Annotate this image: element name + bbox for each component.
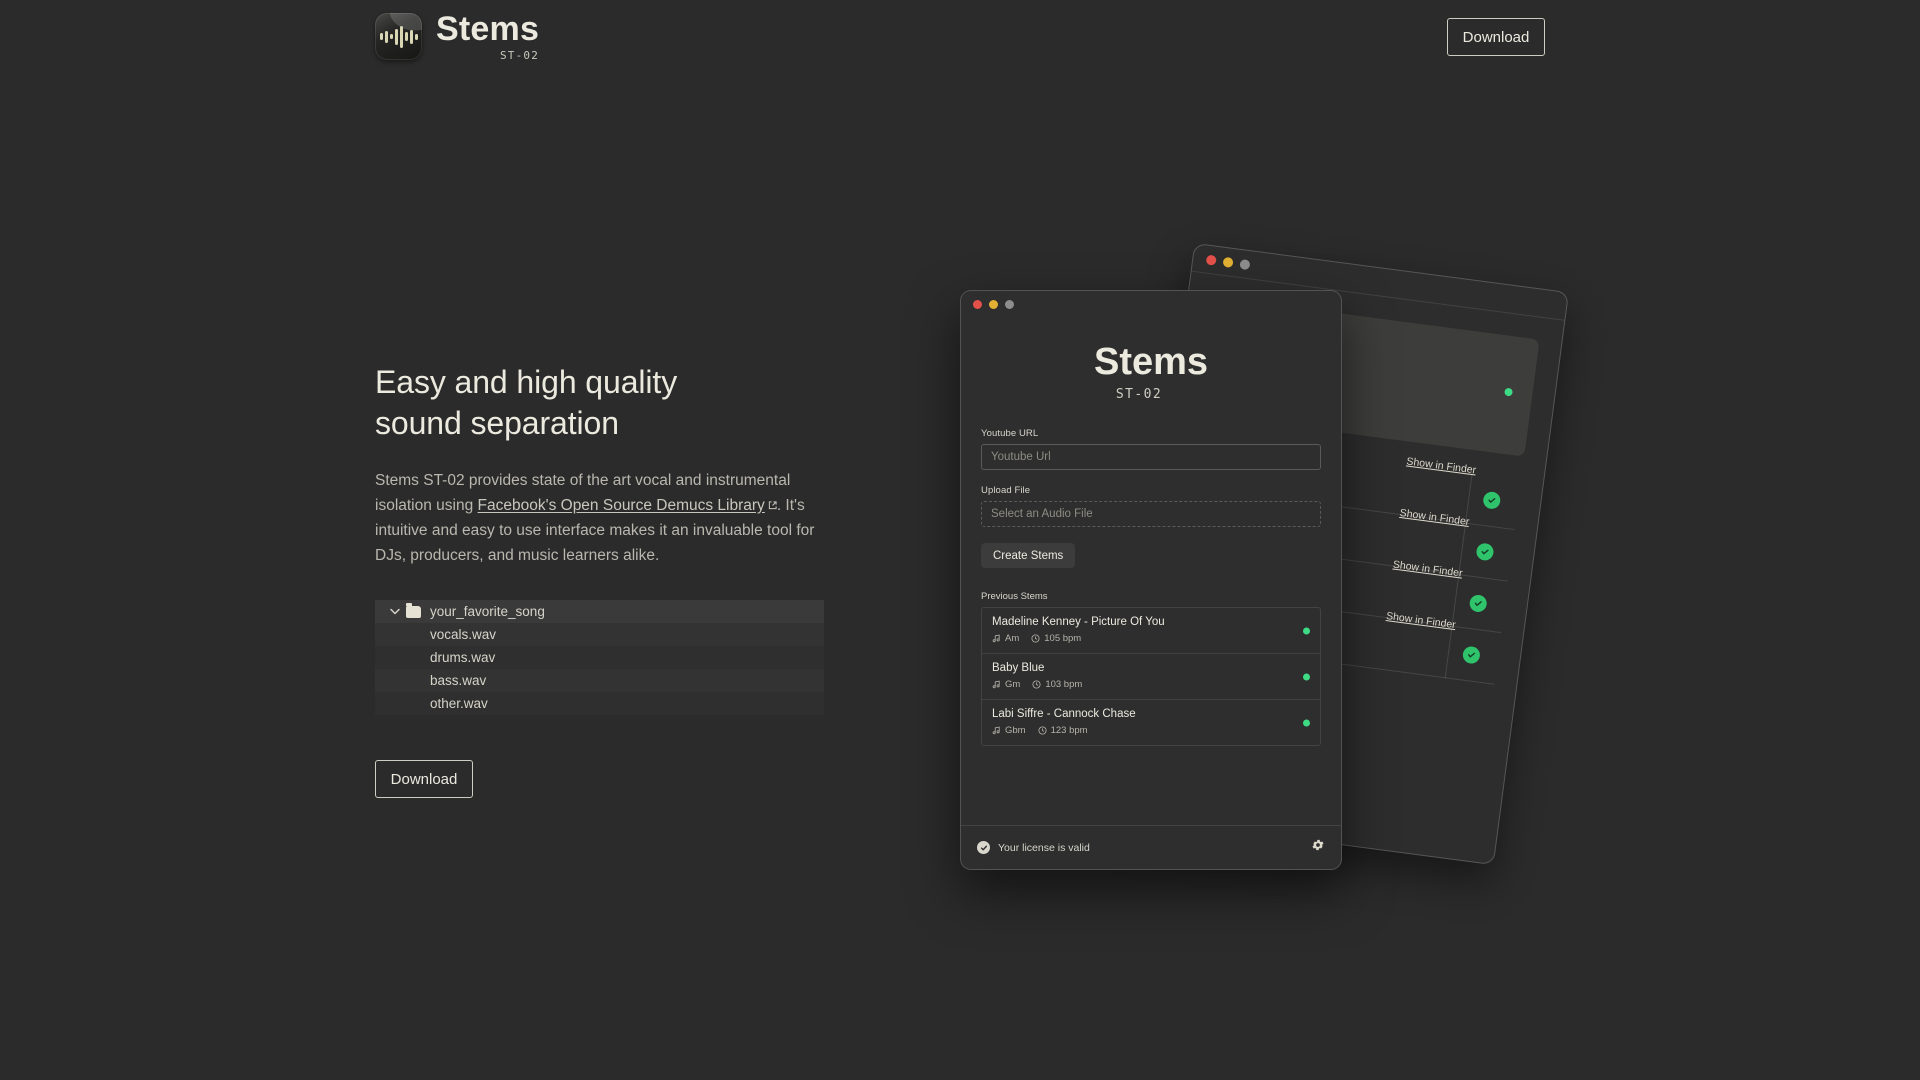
minimize-button-icon[interactable] [1223, 256, 1234, 267]
metronome-icon [1031, 634, 1040, 643]
top-navigation-bar: Stems ST-02 Download [0, 0, 1920, 78]
tree-row-folder[interactable]: your_favorite_song [375, 600, 824, 623]
check-icon [1482, 491, 1501, 510]
app-preview-stage: nnock Show in Finder Show in Finder [960, 250, 1580, 890]
tree-folder-label: your_favorite_song [430, 604, 545, 619]
license-valid-icon [977, 841, 990, 854]
youtube-url-label: Youtube URL [981, 428, 1321, 439]
stem-title: Labi Siffre - Cannock Chase [992, 708, 1310, 720]
brand-text: Stems ST-02 [436, 12, 539, 62]
chevron-down-icon[interactable] [387, 604, 403, 620]
stem-complete-cell [1452, 575, 1504, 633]
music-note-icon [992, 680, 1001, 689]
metronome-icon [1038, 726, 1047, 735]
check-icon [1469, 594, 1488, 613]
hero-description: Stems ST-02 provides state of the art vo… [375, 468, 827, 568]
upload-file-label: Upload File [981, 485, 1321, 496]
close-button-icon[interactable] [973, 300, 982, 309]
bpm-chip: 105 bpm [1031, 633, 1081, 644]
license-status: Your license is valid [977, 841, 1090, 854]
app-logo-subtitle: ST-02 [961, 387, 1317, 402]
tree-row-file[interactable]: bass.wav [375, 669, 824, 692]
demucs-library-link[interactable]: Facebook's Open Source Demucs Library [478, 497, 765, 514]
status-dot [1504, 388, 1513, 397]
main-app-window: Stems ST-02 Youtube URL Upload File Crea… [960, 290, 1342, 870]
hero-download-button[interactable]: Download [375, 760, 473, 798]
brand-logo: Stems ST-02 [375, 12, 539, 62]
check-icon [1462, 645, 1481, 664]
stem-bpm: 103 bpm [1045, 679, 1082, 690]
stem-complete-cell [1458, 523, 1510, 581]
stem-complete-cell [1465, 471, 1517, 529]
stem-complete-cell [1445, 626, 1497, 684]
show-in-finder-link[interactable]: Show in Finder [1406, 455, 1477, 476]
status-badge [1303, 627, 1310, 634]
stem-bpm: 105 bpm [1044, 633, 1081, 644]
stem-title: Madeline Kenney - Picture Of You [992, 616, 1310, 628]
folder-icon [406, 606, 421, 618]
maximize-button-icon[interactable] [1005, 300, 1014, 309]
bpm-chip: 103 bpm [1032, 679, 1082, 690]
check-icon [1475, 542, 1494, 561]
musical-key-chip: Am [992, 633, 1019, 644]
status-badge [1303, 719, 1310, 726]
gear-icon[interactable] [1311, 838, 1325, 857]
app-logo-title: Stems [961, 343, 1341, 381]
stem-key: Gm [1005, 679, 1020, 690]
tree-row-file[interactable]: other.wav [375, 692, 824, 715]
app-window-body: Youtube URL Upload File Create Stems Pre… [961, 402, 1341, 825]
stem-metadata: Gbm 123 bpm [992, 725, 1310, 736]
output-file-tree: your_favorite_song vocals.wav drums.wav … [375, 600, 824, 715]
stems-app-icon [375, 13, 422, 60]
tree-file-label: vocals.wav [430, 627, 496, 642]
brand-title: Stems [436, 12, 539, 48]
music-note-icon [992, 634, 1001, 643]
previous-stem-item[interactable]: Labi Siffre - Cannock Chase Gbm 123 bpm [982, 700, 1320, 745]
hero-section: Easy and high quality sound separation S… [375, 362, 827, 798]
minimize-button-icon[interactable] [989, 300, 998, 309]
waveform-icon [380, 26, 418, 48]
stem-title: Baby Blue [992, 662, 1310, 674]
previous-stems-list: Madeline Kenney - Picture Of You Am 105 … [981, 607, 1321, 746]
status-badge [1303, 673, 1310, 680]
tree-row-file[interactable]: drums.wav [375, 646, 824, 669]
stem-key: Gbm [1005, 725, 1026, 736]
upload-file-field-group: Upload File [981, 485, 1321, 527]
upload-file-input[interactable] [981, 501, 1321, 527]
musical-key-chip: Gbm [992, 725, 1026, 736]
metronome-icon [1032, 680, 1041, 689]
tree-row-file[interactable]: vocals.wav [375, 623, 824, 646]
stem-metadata: Gm 103 bpm [992, 679, 1310, 690]
youtube-url-input[interactable] [981, 444, 1321, 470]
music-note-icon [992, 726, 1001, 735]
stem-bpm: 123 bpm [1051, 725, 1088, 736]
create-stems-button[interactable]: Create Stems [981, 543, 1075, 568]
close-button-icon[interactable] [1206, 254, 1217, 265]
headline-line-2: sound separation [375, 405, 619, 441]
previous-stem-item[interactable]: Baby Blue Gm 103 bpm [982, 654, 1320, 700]
tree-file-label: other.wav [430, 696, 488, 711]
external-link-icon [768, 493, 777, 502]
page-title: Easy and high quality sound separation [375, 362, 827, 444]
header-download-button[interactable]: Download [1447, 18, 1545, 56]
musical-key-chip: Gm [992, 679, 1020, 690]
license-status-text: Your license is valid [998, 842, 1090, 854]
stem-metadata: Am 105 bpm [992, 633, 1310, 644]
stem-key: Am [1005, 633, 1019, 644]
headline-line-1: Easy and high quality [375, 364, 677, 400]
tree-file-label: drums.wav [430, 650, 495, 665]
app-logo-block: Stems ST-02 [961, 343, 1341, 402]
previous-stem-item[interactable]: Madeline Kenney - Picture Of You Am 105 … [982, 608, 1320, 654]
youtube-url-field-group: Youtube URL [981, 428, 1321, 470]
bpm-chip: 123 bpm [1038, 725, 1088, 736]
tree-file-label: bass.wav [430, 673, 486, 688]
brand-subtitle: ST-02 [436, 49, 539, 62]
app-window-footer: Your license is valid [961, 825, 1341, 869]
maximize-button-icon[interactable] [1239, 258, 1250, 269]
previous-stems-label: Previous Stems [981, 591, 1321, 602]
window-titlebar [961, 291, 1341, 318]
